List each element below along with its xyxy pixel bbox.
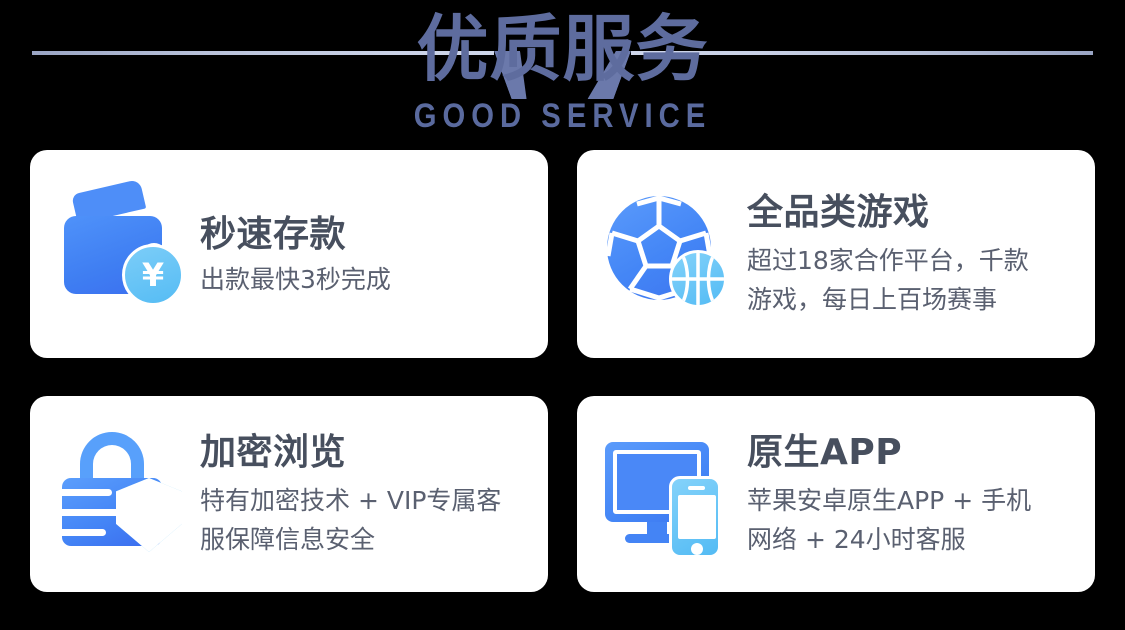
card-subtitle-line: 服保障信息安全: [200, 520, 534, 559]
feature-card-native-app[interactable]: 原生APP 苹果安卓原生APP + 手机 网络 + 24小时客服: [577, 396, 1095, 592]
banner-header: 优质服务 GOOD SERVICE: [0, 0, 1125, 148]
lock-shield-icon: [56, 428, 188, 560]
monitor-phone-icon: [603, 428, 735, 560]
basketball-icon: [669, 250, 727, 308]
card-subtitle-line: 超过18家合作平台，千款: [747, 241, 1081, 280]
page-title: 优质服务: [0, 6, 1125, 92]
card-title: 全品类游戏: [747, 191, 1081, 235]
feature-card-encryption[interactable]: 加密浏览 特有加密技术 + VIP专属客 服保障信息安全: [30, 396, 548, 592]
card-title: 原生APP: [747, 431, 1081, 475]
phone-screen: [678, 495, 716, 539]
plus-icon: [133, 496, 165, 528]
card-text-block: 原生APP 苹果安卓原生APP + 手机 网络 + 24小时客服: [747, 429, 1081, 559]
yen-coin-icon: ¥: [122, 244, 184, 306]
feature-card-grid: ¥ 秒速存款 出款最快3秒完成: [30, 150, 1095, 592]
card-text-block: 全品类游戏 超过18家合作平台，千款 游戏，每日上百场赛事: [747, 189, 1081, 319]
card-text-block: 秒速存款 出款最快3秒完成: [200, 211, 534, 297]
promo-banner: 优质服务 GOOD SERVICE ¥ 秒速存款 出款最快3秒完成: [0, 0, 1125, 630]
page-subtitle: GOOD SERVICE: [79, 96, 1047, 136]
card-subtitle-line: 苹果安卓原生APP + 手机: [747, 481, 1081, 520]
basketball-lines-icon: [672, 253, 724, 305]
card-subtitle-line: 游戏，每日上百场赛事: [747, 280, 1081, 319]
card-title: 秒速存款: [200, 213, 534, 257]
phone-speaker: [688, 486, 705, 490]
card-subtitle-line: 出款最快3秒完成: [200, 263, 534, 297]
wallet-icon: ¥: [56, 188, 188, 320]
card-subtitle-line: 特有加密技术 + VIP专属客: [200, 481, 534, 520]
feature-card-games[interactable]: 全品类游戏 超过18家合作平台，千款 游戏，每日上百场赛事: [577, 150, 1095, 358]
phone-home-button: [691, 543, 703, 555]
smartphone-icon: [669, 476, 721, 558]
card-text-block: 加密浏览 特有加密技术 + VIP专属客 服保障信息安全: [200, 429, 534, 559]
feature-card-deposit[interactable]: ¥ 秒速存款 出款最快3秒完成: [30, 150, 548, 358]
soccer-ball-icon: [603, 188, 735, 320]
card-subtitle-line: 网络 + 24小时客服: [747, 520, 1081, 559]
card-title: 加密浏览: [200, 431, 534, 475]
